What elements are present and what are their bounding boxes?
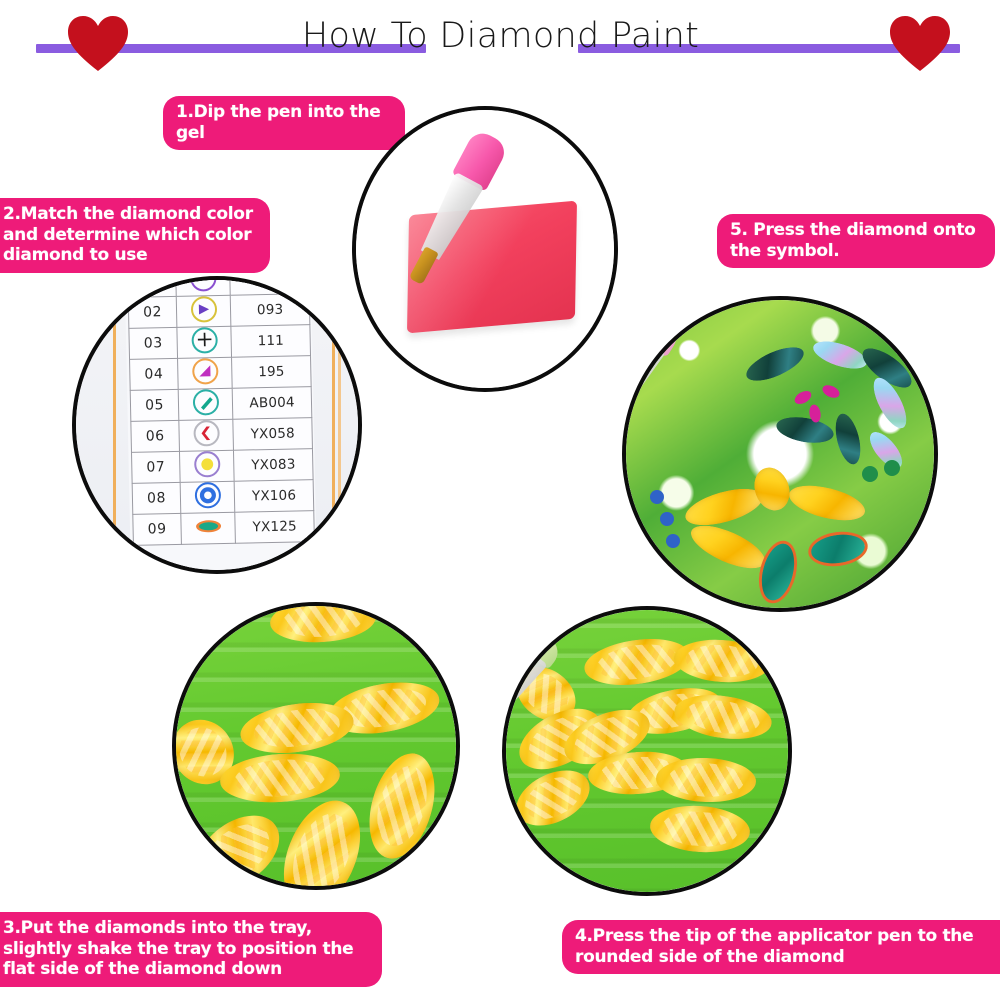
legend-rows: 02802093031110419505AB00406YX05807YX0830… [128,280,315,545]
legend-symbol-icon [195,513,222,540]
step-2-label: 2.Match the diamond color and determine … [0,198,270,273]
legend-symbol-cell [179,419,234,451]
legend-dmc-cell: AB004 [232,387,311,420]
legend-symbol-icon [191,327,218,354]
legend-symbol-icon [192,389,219,416]
legend-symbol-icon [192,358,219,385]
legend-dmc-cell: YX125 [235,511,314,544]
table-row: 09YX125 [133,511,315,546]
legend-code-cell: 07 [131,451,180,483]
gel-pad [407,201,577,334]
step-3-label: 3.Put the diamonds into the tray, slight… [0,912,382,987]
legend-symbol-cell [180,481,235,513]
legend-dmc-cell: YX058 [233,418,312,451]
header: How To Diamond Paint [0,0,1001,86]
legend-code-cell: 06 [131,420,180,452]
page-title: How To Diamond Paint [0,16,1001,56]
legend-dmc-cell: 093 [230,294,309,327]
table-row: 04195 [130,356,312,391]
legend-code-cell: 08 [132,482,181,514]
table-row: 07YX083 [131,449,313,484]
legend-code-cell: 05 [130,389,179,421]
legend-code-cell: 02 [128,296,177,328]
legend-code-cell [128,280,177,297]
legend-symbol-cell [178,388,233,420]
legend-symbol-icon [194,482,221,509]
legend-symbol-cell [181,512,236,544]
photo-diamonds-in-tray [172,602,460,890]
legend-symbol-cell [176,280,231,296]
table-row: 03111 [129,325,311,360]
legend-symbol-icon [190,296,217,323]
legend-code-cell: 03 [129,327,178,359]
legend-symbol-cell [178,357,233,389]
legend-symbol-cell [180,450,235,482]
infographic-canvas: How To Diamond Paint 1.Dip the pen into … [0,0,1001,1001]
photo-pen-dipping-in-gel [352,106,618,392]
step-5-label: 5. Press the diamond onto the symbol. [717,214,995,268]
legend-symbol-icon [190,280,217,292]
legend-dmc-cell: YX106 [234,480,313,513]
legend-symbol-icon [194,451,221,478]
photo-pen-picking-diamond [502,606,792,896]
photo-pressing-diamond-onto-canvas [622,296,938,612]
table-row: 05AB004 [130,387,312,422]
table-row: 08YX106 [132,480,314,515]
photo-color-chart-legend: 02802093031110419505AB00406YX05807YX0830… [72,276,362,574]
legend-symbol-cell [176,295,231,327]
legend-symbol-cell [177,326,232,358]
legend-dmc-cell: 195 [232,356,311,389]
legend-symbol-icon [193,420,220,447]
table-row: 02093 [128,294,310,329]
legend-code-cell: 09 [133,513,182,545]
table-row: 06YX058 [131,418,313,453]
legend-dmc-cell: 111 [231,325,310,358]
step-4-label: 4.Press the tip of the applicator pen to… [562,920,1000,974]
legend-dmc-cell: YX083 [234,449,313,482]
color-legend-table: 02802093031110419505AB00406YX05807YX0830… [127,280,315,546]
legend-code-cell: 04 [130,358,179,390]
